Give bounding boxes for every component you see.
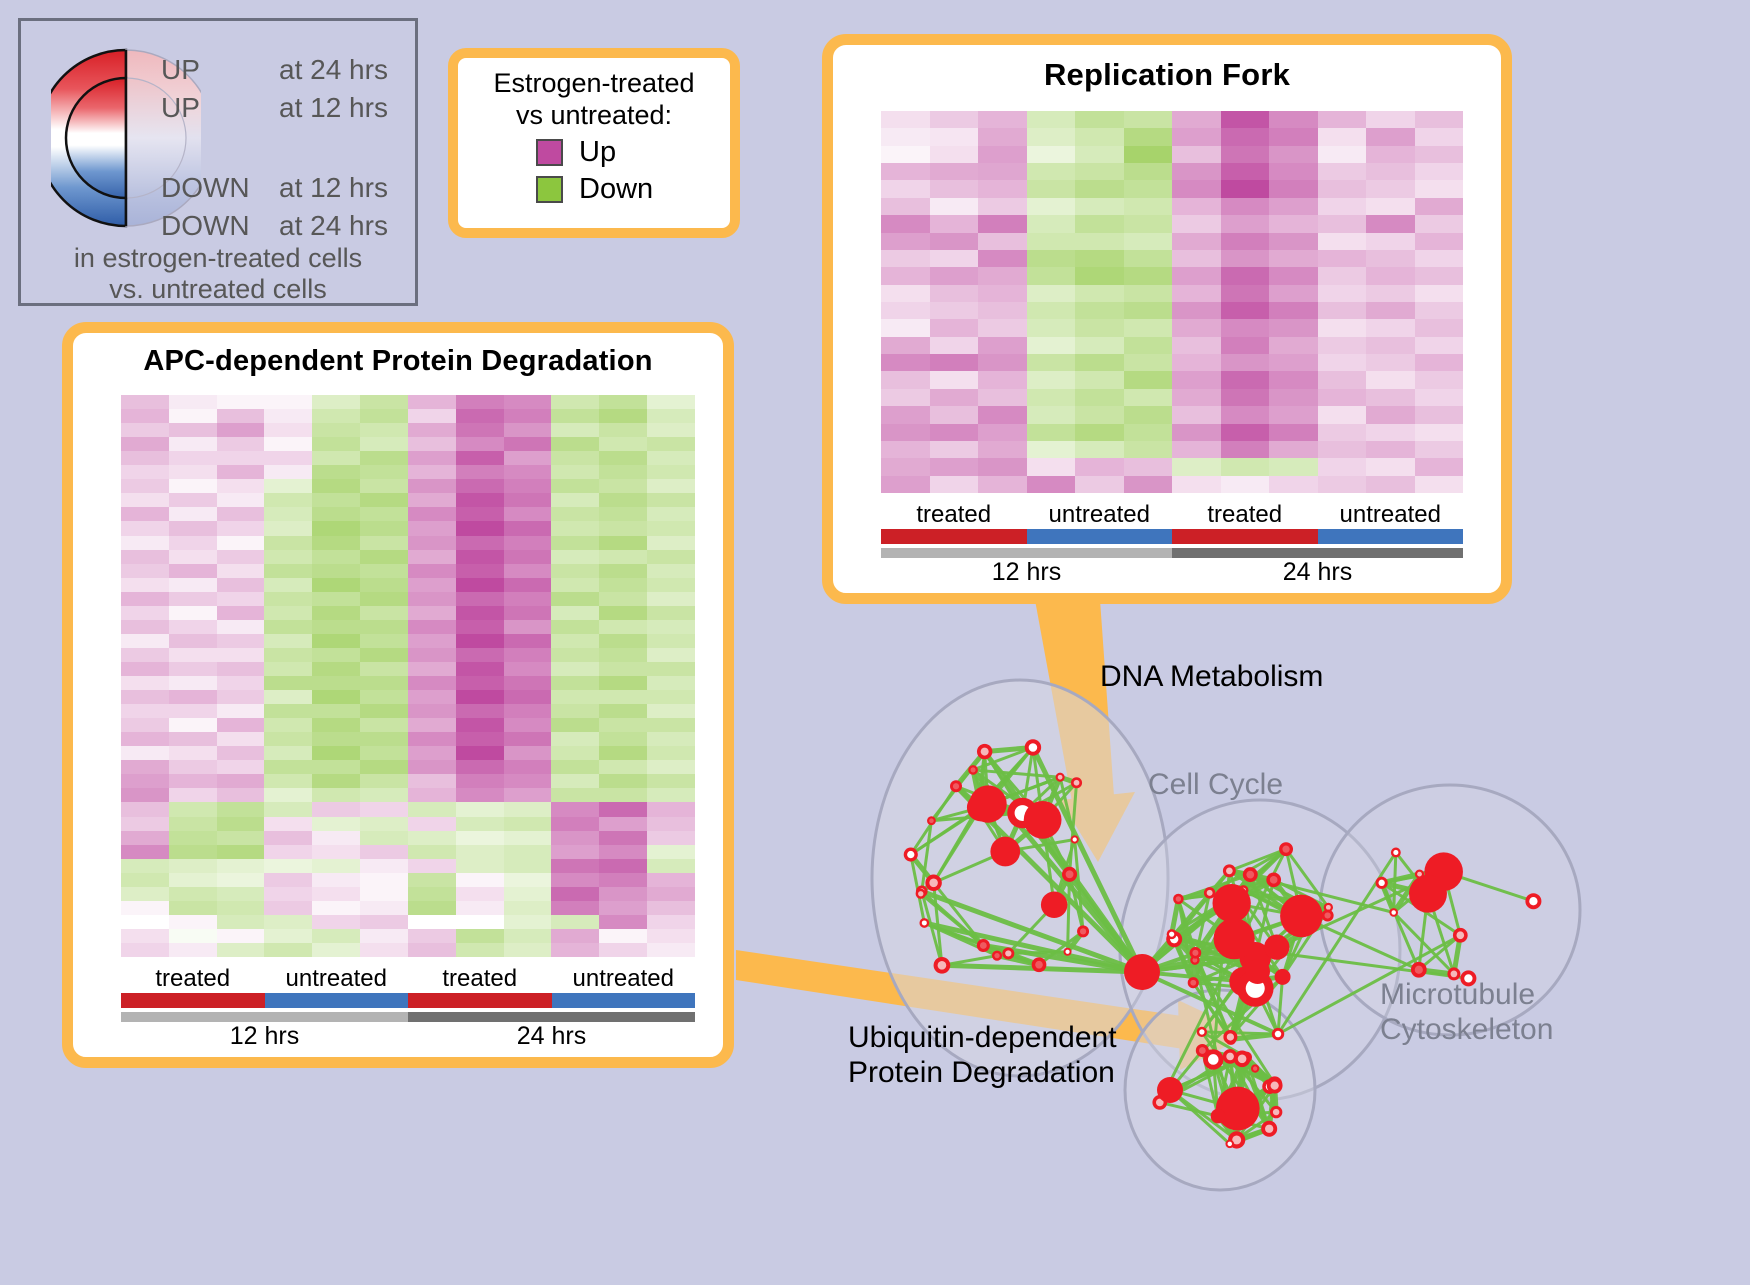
node-core [1176,896,1181,901]
node-core [1005,950,1011,956]
heatmap-cell [169,578,217,592]
network-node[interactable] [1270,1106,1282,1118]
heatmap-cell [264,550,312,564]
heatmap-cell [360,648,408,662]
node-core [1065,950,1069,954]
network-node[interactable] [1071,835,1079,843]
heatmap-cell [1415,476,1464,493]
color-scale-legend: UP at 24 hrs UP at 12 hrs DOWN at 12 hrs… [18,18,418,306]
heatmap-cell [1075,233,1124,250]
heatmap-cell [456,817,504,831]
heatmap-cell [1269,250,1318,267]
heatmap-cell [312,887,360,901]
heatmap-cell [647,578,695,592]
heatmap-cell [930,337,979,354]
heatmap-cell [1221,441,1270,458]
heatmap-cell [504,915,552,929]
heatmap-cell [1318,441,1367,458]
network-node[interactable] [1261,1121,1277,1137]
heatmap-cell [1221,146,1270,163]
heatmap-cell [360,802,408,816]
heatmap-cell [551,521,599,535]
node-core [1456,931,1464,939]
network-node[interactable] [1453,928,1468,943]
heatmap-cell [551,831,599,845]
network-node[interactable] [1272,1028,1284,1040]
heatmap-cell [1415,267,1464,284]
heatmap-cell [881,354,930,371]
heatmap-cell [881,198,930,215]
heatmap-cell [1221,406,1270,423]
heatmap-cell [599,817,647,831]
heatmap-cell [1221,389,1270,406]
heatmap-cell [551,536,599,550]
heatmap-cell [504,451,552,465]
heatmap-cell [599,845,647,859]
heatmap-cell [1124,111,1173,128]
heatmap-cell [121,662,169,676]
condition-label: untreated [552,965,696,993]
network-node[interactable] [1266,873,1281,888]
network-svg [790,620,1750,1280]
network-node[interactable] [1245,959,1270,984]
heatmap-cell [1366,146,1415,163]
heatmap-cell [360,564,408,578]
network-node[interactable] [1188,977,1199,988]
condition-swatch-treated-24 [1172,529,1318,544]
heatmap-cell [264,437,312,451]
heatmap-cell [599,760,647,774]
heatmap-cell [312,718,360,732]
network-node[interactable] [927,816,936,825]
heatmap-cell [360,676,408,690]
heatmap-cell [1366,233,1415,250]
heatmap-cell [217,634,265,648]
heatmap-cell [360,845,408,859]
network-node[interactable] [1525,893,1541,909]
heatmap-cell [408,465,456,479]
heatmap-cell [978,476,1027,493]
heatmap-cell [881,146,930,163]
network-node[interactable] [1267,1078,1283,1094]
heatmap-cell [1318,424,1367,441]
network-node[interactable] [1415,870,1424,879]
heatmap-cell [551,718,599,732]
heatmap-cell [1269,267,1318,284]
heatmap-cell [121,550,169,564]
heatmap-cell [456,774,504,788]
heatmap-cell [1075,458,1124,475]
network-node[interactable] [1032,957,1047,972]
node-core [1451,971,1458,978]
heatmap-cell [1172,406,1221,423]
network-node[interactable] [934,957,951,974]
heatmap-cell [551,578,599,592]
heatmap-cell [1221,233,1270,250]
heatmap-cell [1075,406,1124,423]
network-node[interactable] [977,939,990,952]
heatmap-cell [408,873,456,887]
heatmap-cell [551,634,599,648]
heatmap-cell [504,901,552,915]
network-node[interactable] [950,780,962,792]
heatmap-cell [930,406,979,423]
network-node[interactable] [1124,954,1160,990]
heatmap-cell [647,732,695,746]
network-node[interactable] [1213,884,1251,922]
scale-time: at 24 hrs [279,54,388,86]
time-color-bar [881,548,1463,558]
heatmap-cell [551,479,599,493]
heatmap-cell [264,718,312,732]
heatmap-cell [1027,389,1076,406]
heatmap-cell [1269,233,1318,250]
network-node[interactable] [1264,934,1289,959]
heatmap-cell [599,409,647,423]
heatmap-cell [647,465,695,479]
heatmap-cell [121,831,169,845]
heatmap-cell [1415,458,1464,475]
network-node[interactable] [1041,892,1068,919]
heatmap-cell [264,592,312,606]
network-node[interactable] [1197,1027,1207,1037]
heatmap-cell [881,458,930,475]
heatmap-cell [504,802,552,816]
heatmap-cell [599,662,647,676]
heatmap-cell [217,465,265,479]
heatmap-cell [1075,111,1124,128]
network-node[interactable] [990,837,1020,867]
heatmap-cell [360,901,408,915]
heatmap-cell [647,451,695,465]
heatmap-cell [360,887,408,901]
panel-title: APC-dependent Protein Degradation [73,333,723,378]
node-core [922,920,927,925]
heatmap-cell [264,943,312,957]
heatmap-cell [930,215,979,232]
heatmap-cell [1075,250,1124,267]
network-node[interactable] [1216,1087,1260,1131]
network-node[interactable] [1280,895,1323,938]
heatmap-cell [360,465,408,479]
time-label: 12 hrs [121,1022,408,1051]
network-node[interactable] [969,785,1006,822]
heatmap-cell [456,901,504,915]
heatmap-cell [1415,302,1464,319]
heatmap-cell [881,424,930,441]
condition-label: untreated [265,965,409,993]
heatmap-cell [217,423,265,437]
heatmap-cell [1124,302,1173,319]
heatmap-cell [217,437,265,451]
node-core [1211,1109,1226,1124]
network-node[interactable] [925,875,941,891]
heatmap-cell [121,423,169,437]
heatmap-cell [456,606,504,620]
heatmap-cell [1075,424,1124,441]
heatmap-cell [169,760,217,774]
heatmap-cell [1318,233,1367,250]
heatmap-cell [504,479,552,493]
condition-label: treated [121,965,265,993]
network-node[interactable] [1322,909,1334,921]
network-node[interactable] [1411,962,1427,978]
heatmap-cell [217,395,265,409]
heatmap-cell [1075,476,1124,493]
heatmap-cell [312,802,360,816]
heatmap-cell [1124,458,1173,475]
network-node[interactable] [1234,1050,1251,1067]
panel-apc-degradation[interactable]: APC-dependent Protein Degradation treate… [62,322,734,1068]
heatmap-cell [360,704,408,718]
node-core [1192,950,1198,956]
heatmap-cell [1172,267,1221,284]
heatmap-cell [551,845,599,859]
node-core [980,942,987,949]
heatmap-cell [360,620,408,634]
heatmap-cell [312,774,360,788]
condition-color-bar [881,529,1463,544]
network-diagram[interactable]: DNA Metabolism Cell Cycle Microtubule Cy… [790,620,1750,1280]
heatmap-cell [408,845,456,859]
heatmap-cell [647,564,695,578]
heatmap-cell [978,215,1027,232]
network-node[interactable] [1409,875,1447,913]
heatmap-cell [121,395,169,409]
network-node[interactable] [1173,894,1184,905]
heatmap-cell [360,732,408,746]
panel-replication-fork[interactable]: Replication Fork treated untreated treat… [822,34,1512,604]
heatmap-cell [264,831,312,845]
network-node[interactable] [1211,1109,1226,1124]
node-core [1264,934,1289,959]
heatmap-cell [1366,406,1415,423]
network-node[interactable] [1203,1049,1223,1069]
heatmap-cell [360,578,408,592]
heatmap-cell [551,859,599,873]
key-title-line-2: vs untreated: [458,100,730,132]
heatmap-cell [1366,128,1415,145]
network-node[interactable] [977,744,992,759]
network-node[interactable] [1223,864,1236,877]
heatmap-cell [1172,389,1221,406]
heatmap-cell [217,915,265,929]
heatmap-cell [169,732,217,746]
heatmap-cell [1221,302,1270,319]
heatmap-cell [551,929,599,943]
heatmap-cell [121,929,169,943]
network-node[interactable] [1391,848,1401,858]
heatmap-cell [599,732,647,746]
heatmap-cell [1415,337,1464,354]
heatmap-cell [169,929,217,943]
network-node[interactable] [992,951,1002,961]
network-node[interactable] [1056,773,1065,782]
heatmap-cell [312,479,360,493]
network-node[interactable] [1225,1140,1234,1149]
network-node[interactable] [1376,877,1388,889]
heatmap-cell [1269,389,1318,406]
node-core [971,767,976,772]
node-core [1029,743,1038,752]
heatmap-cell [456,915,504,929]
network-node[interactable] [919,918,929,928]
heatmap-cell [599,592,647,606]
heatmap-cell [360,788,408,802]
heatmap-cell [930,389,979,406]
network-node[interactable] [1389,908,1398,917]
network-node[interactable] [904,847,918,861]
time-label: 12 hrs [881,558,1172,587]
heatmap-cell [647,395,695,409]
heatmap-cell [456,493,504,507]
heatmap-cell [599,831,647,845]
heatmap-cell [881,406,930,423]
heatmap-cell [456,465,504,479]
node-core [1270,876,1278,884]
heatmap-cell [456,634,504,648]
heatmap-cell [647,606,695,620]
network-node[interactable] [1223,1030,1237,1044]
heatmap-apc-degradation[interactable] [121,395,695,957]
heatmap-cell [930,267,979,284]
heatmap-cell [264,802,312,816]
heatmap-cell [1124,233,1173,250]
node-core [929,879,938,888]
heatmap-cell [504,831,552,845]
heatmap-cell [264,536,312,550]
heatmap-cell [264,564,312,578]
heatmap-cell [599,521,647,535]
node-core [1226,868,1233,875]
node-core [1214,918,1255,959]
network-node[interactable] [1167,929,1177,939]
network-node[interactable] [1025,739,1041,755]
heatmap-cell [551,437,599,451]
heatmap-cell [504,662,552,676]
caption-line-1: in estrogen-treated cells [21,243,415,274]
heatmap-cell [1124,267,1173,284]
heatmap-cell [647,493,695,507]
node-core [1271,1082,1279,1090]
condition-label: treated [1172,501,1318,529]
heatmap-cell [647,690,695,704]
heatmap-cell [551,873,599,887]
node-core [1058,775,1063,780]
network-node[interactable] [1157,1077,1183,1103]
node-core [1409,875,1447,913]
heatmap-cell [312,845,360,859]
heatmap-cell [930,424,979,441]
network-node[interactable] [1275,969,1291,985]
heatmap-cell [1318,319,1367,336]
heatmap-cell [456,409,504,423]
heatmap-cell [169,521,217,535]
network-node[interactable] [1071,777,1082,788]
heatmap-cell [599,550,647,564]
heatmap-cell [360,395,408,409]
network-node[interactable] [968,765,978,775]
heatmap-cell [1172,163,1221,180]
heatmap-cell [599,479,647,493]
heatmap-cell [551,774,599,788]
heatmap-cell [599,943,647,957]
heatmap-cell [360,409,408,423]
network-node[interactable] [1251,1064,1259,1072]
network-node[interactable] [1002,947,1014,959]
heatmap-cell [1318,198,1367,215]
heatmap-cell [217,859,265,873]
heatmap-cell [169,620,217,634]
heatmap-cell [408,915,456,929]
node-core [990,837,1020,867]
node-core [1226,1053,1234,1061]
network-node[interactable] [1190,947,1202,959]
network-node[interactable] [1279,842,1293,856]
network-node[interactable] [1062,867,1077,882]
network-node[interactable] [1243,867,1258,882]
heatmap-cell [647,521,695,535]
network-node[interactable] [1077,925,1089,937]
heatmap-cell [504,606,552,620]
heatmap-cell [408,620,456,634]
heatmap-cell [504,746,552,760]
network-node[interactable] [1214,918,1255,959]
heatmap-cell [121,564,169,578]
heatmap-cell [1318,285,1367,302]
heatmap-cell [264,648,312,662]
heatmap-cell [551,465,599,479]
heatmap-cell [1269,458,1318,475]
condition-labels: treated untreated treated untreated [881,501,1463,529]
heatmap-cell [264,578,312,592]
heatmap-cell [1318,250,1367,267]
heatmap-cell [881,389,930,406]
heatmap-cell [504,718,552,732]
heatmap-cell [312,437,360,451]
network-node[interactable] [1024,801,1062,839]
scale-legend-caption: in estrogen-treated cells vs. untreated … [21,243,415,305]
heatmap-cell [312,634,360,648]
heatmap-cell [1124,371,1173,388]
heatmap-cell [169,493,217,507]
cluster-label-dna-metabolism: DNA Metabolism [1100,660,1323,694]
heatmap-cell [1075,389,1124,406]
heatmap-cell [647,437,695,451]
heatmap-cell [312,507,360,521]
heatmap-cell [551,690,599,704]
heatmap-cell [1027,180,1076,197]
heatmap-cell [504,592,552,606]
heatmap-cell [312,465,360,479]
heatmap-cell [1415,354,1464,371]
heatmap-cell [1415,406,1464,423]
heatmap-cell [647,929,695,943]
node-core [1253,1066,1257,1070]
network-node[interactable] [916,889,926,899]
heatmap-cell [647,802,695,816]
node-core [1417,872,1422,877]
heatmap-cell [1269,111,1318,128]
heatmap-cell [1124,250,1173,267]
heatmap-cell [504,690,552,704]
heatmap-replication-fork[interactable] [881,111,1463,493]
heatmap-cell [647,788,695,802]
heatmap-cell [360,592,408,606]
heatmap-cell [264,774,312,788]
heatmap-cell [408,943,456,957]
network-node[interactable] [1064,948,1072,956]
